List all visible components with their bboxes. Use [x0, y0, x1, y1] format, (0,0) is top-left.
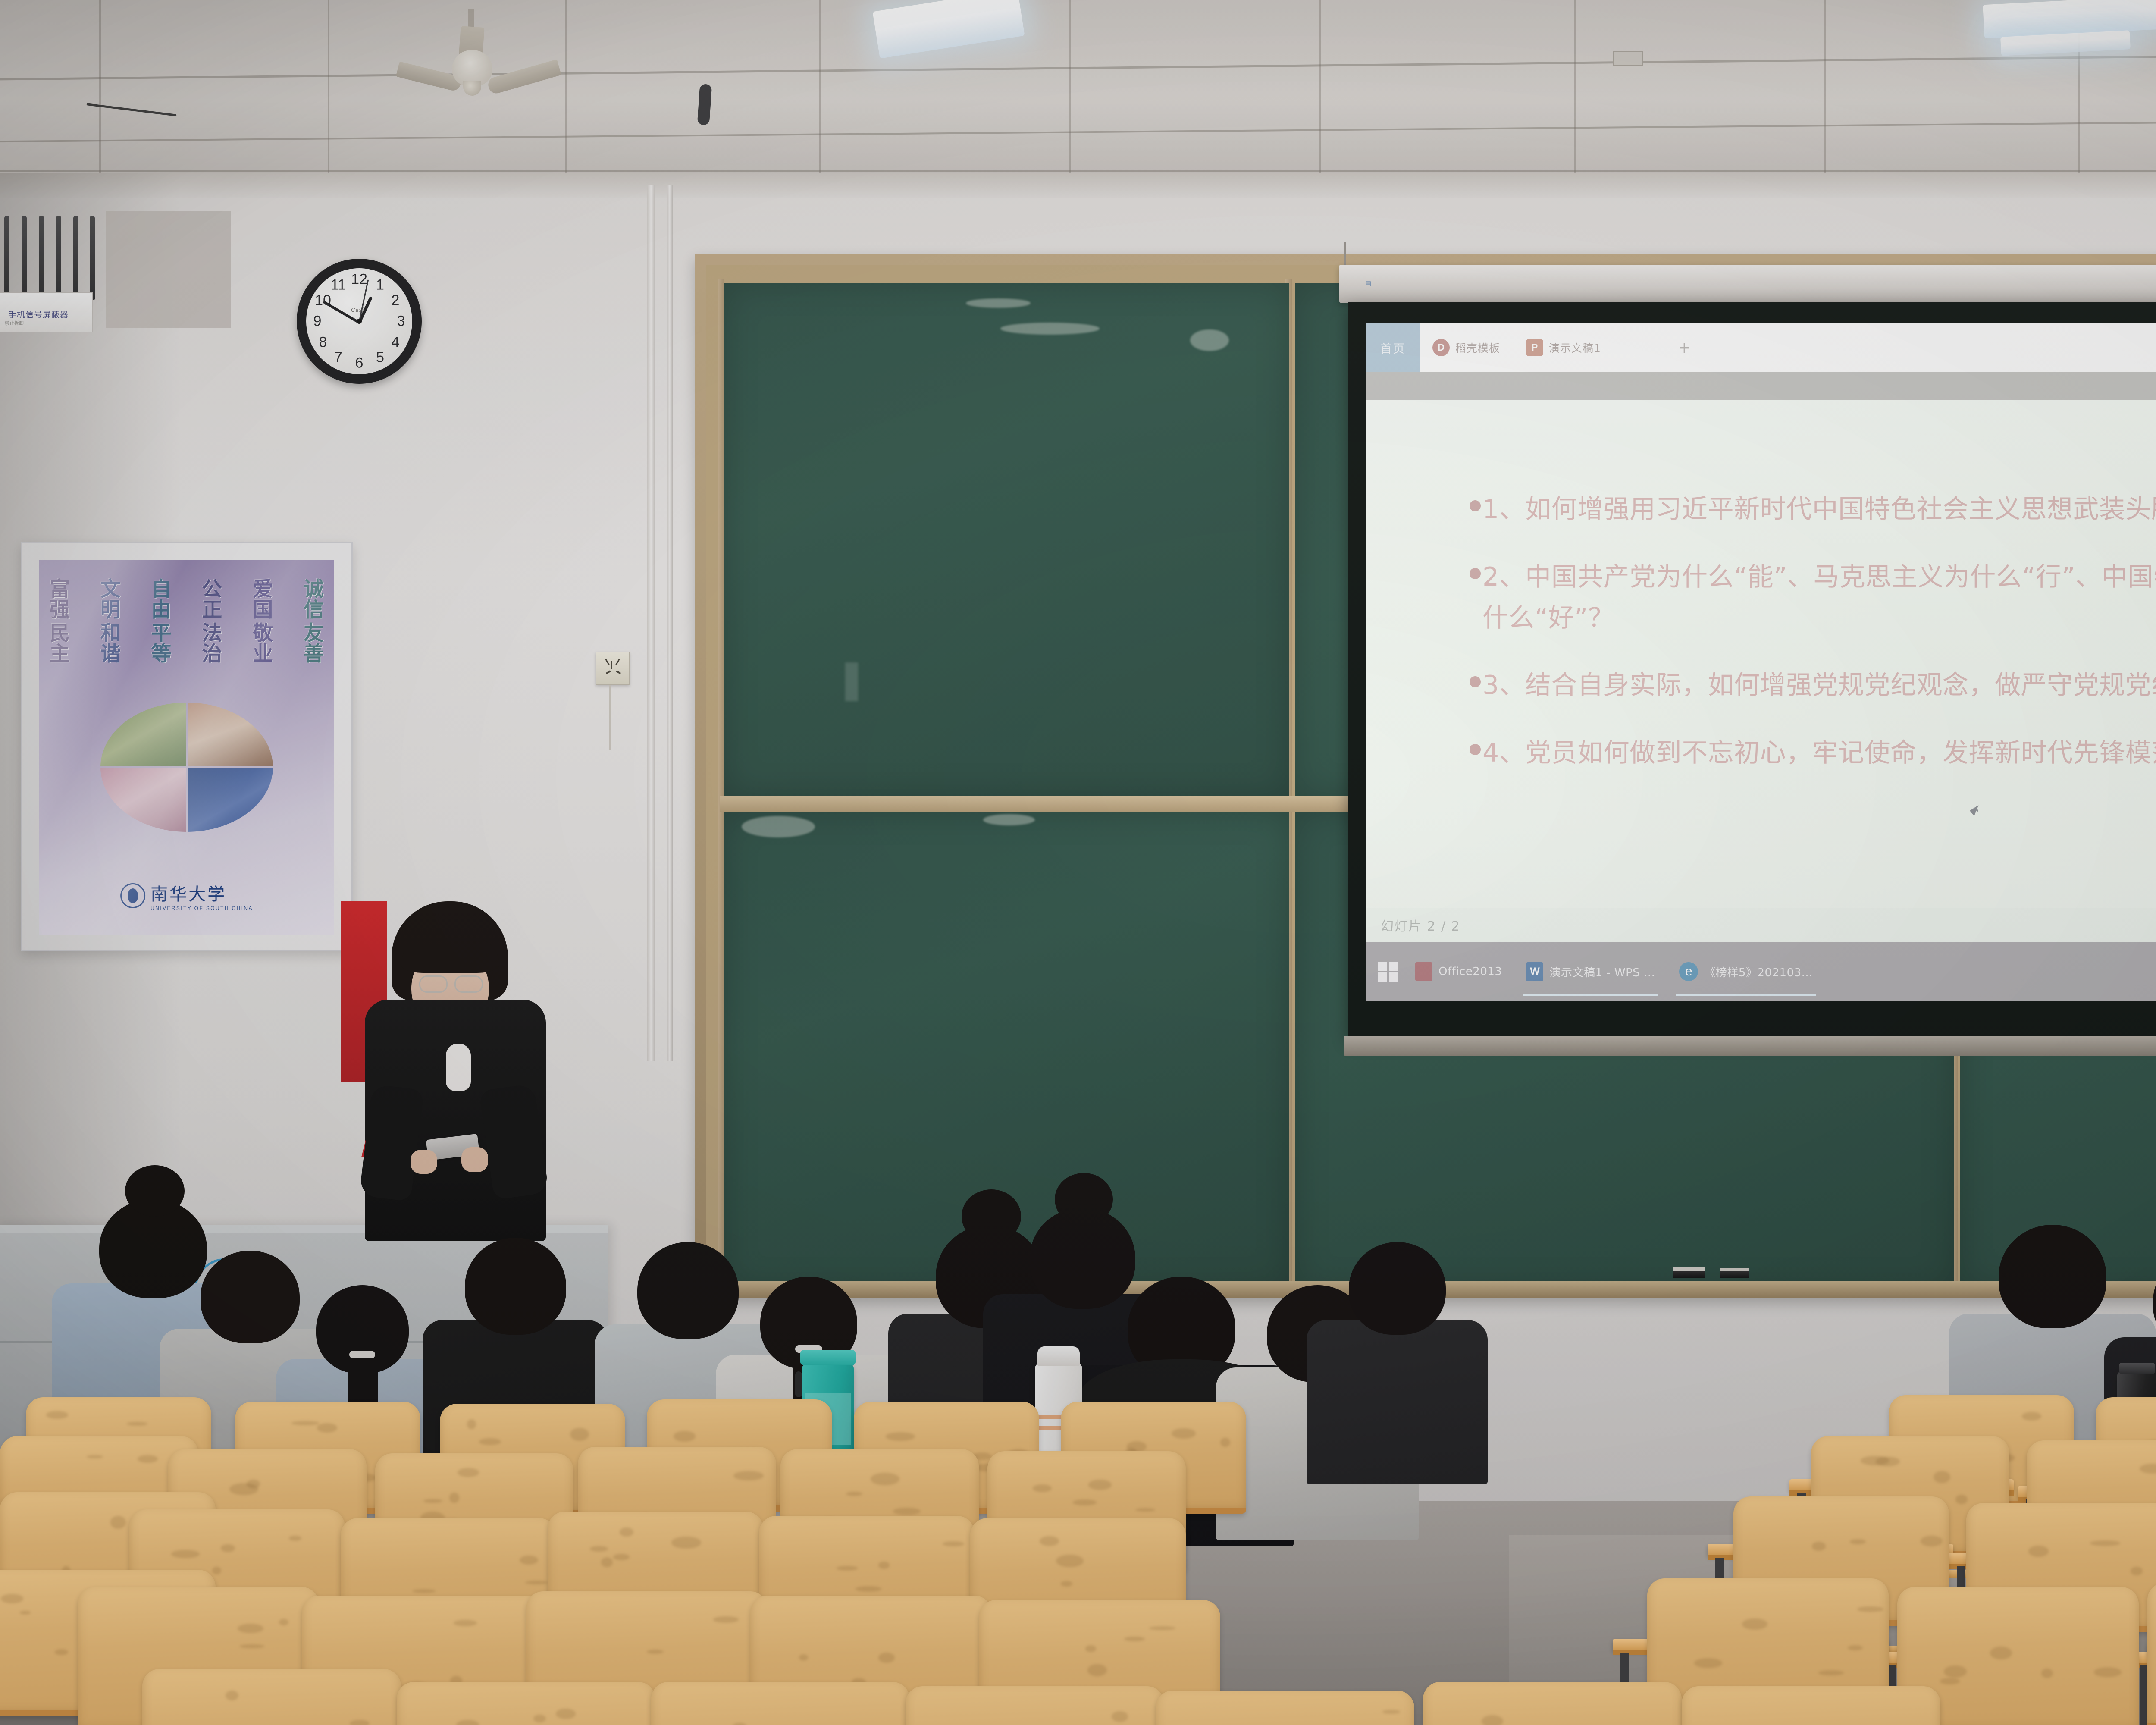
blackboard-eraser — [1720, 1268, 1749, 1278]
mouse-cursor-icon — [1974, 806, 1980, 812]
slide-bullet-text: 1、如何增强用习近平新时代中国特色社会主义思想武装头脑的自觉性？ — [1482, 489, 2156, 530]
seated-student — [1307, 1242, 1488, 1499]
clock-numeral: 2 — [392, 292, 400, 309]
ceiling-fan — [358, 9, 582, 108]
hair-bun — [125, 1165, 185, 1217]
taskbar-label: Office2013 — [1438, 965, 1502, 978]
bullet-dot-icon — [1470, 568, 1481, 579]
classroom-chair — [1423, 1682, 1682, 1725]
office-icon — [1415, 962, 1432, 981]
bullet-dot-icon — [1470, 676, 1481, 687]
clock-numeral: 6 — [355, 355, 364, 372]
classroom-photo: 手机信号屏蔽器 禁止拆卸 Casio 121234567891011 富 强民 … — [0, 0, 2156, 1725]
student-head — [465, 1238, 566, 1335]
core-values-poster: 富 强民 主文 明和 谐自 由平 等公 正法 治爱 国敬 业诚 信友 善 南华大… — [21, 542, 353, 951]
edge-icon — [1679, 962, 1698, 981]
slide-bullet: 2、中国共产党为什么“能”、马克思主义为什么“行”、中国特色社会主义为什么“好”… — [1470, 557, 2156, 639]
start-button-icon[interactable] — [1378, 962, 1398, 982]
classroom-chair — [1682, 1686, 1940, 1725]
blackboard-panel — [724, 283, 1289, 796]
wall-conduit — [667, 185, 673, 1061]
wps-office-window: 首页 D 稻壳模板 P 演示文稿1 + 请登录 − — [1366, 323, 2156, 1024]
clock-numeral: 8 — [319, 334, 327, 351]
wall-clock: Casio 121234567891011 — [297, 259, 422, 384]
taskbar-item-browser[interactable]: 《榜样5》202103... — [1672, 951, 1820, 992]
projector-screen: 首页 D 稻壳模板 P 演示文稿1 + 请登录 − — [1348, 302, 2156, 1036]
clock-numeral: 12 — [351, 271, 367, 288]
hair-tie — [349, 1351, 375, 1358]
classroom-chair — [651, 1682, 910, 1725]
clock-numeral: 1 — [376, 276, 384, 293]
bullet-dot-icon — [1470, 500, 1481, 511]
presenting-student — [341, 901, 565, 1255]
chair-backrest — [651, 1682, 910, 1725]
classroom-chair — [397, 1682, 655, 1725]
tab-docer-template[interactable]: D 稻壳模板 — [1420, 323, 1513, 372]
wall-patch — [106, 211, 231, 328]
student-head — [2153, 1251, 2156, 1352]
docer-icon: D — [1432, 339, 1450, 356]
tab-presentation1[interactable]: P 演示文稿1 — [1513, 323, 1614, 372]
chair-backrest — [2147, 1583, 2156, 1725]
wps-workspace: 1、如何增强用习近平新时代中国特色社会主义思想武装头脑的自觉性？2、中国共产党为… — [1366, 372, 2156, 972]
wps-statusbar: 幻灯片 2 / 2 〈 ☰ 〉 — [1366, 908, 2156, 942]
outlet-wire — [609, 685, 611, 750]
wall-conduit — [647, 185, 655, 1061]
ceiling — [0, 0, 2156, 181]
wps-tabbar: 首页 D 稻壳模板 P 演示文稿1 + 请登录 − — [1366, 323, 2156, 372]
slide-bullet: 3、结合自身实际，如何增强党规党纪观念，做严守党规党纪的表率？ — [1470, 665, 2156, 706]
projector-screen-weight-bar — [1344, 1036, 2156, 1056]
taskbar-item-wps[interactable]: 演示文稿1 - WPS ... — [1519, 951, 1662, 992]
windows-taskbar: Office2013 演示文稿1 - WPS ... 《榜样5》202103..… — [1366, 942, 2156, 1001]
slide-canvas[interactable]: 1、如何增强用习近平新时代中国特色社会主义思想武装头脑的自觉性？2、中国共产党为… — [1366, 400, 2156, 908]
jammer-sublabel: 禁止拆卸 — [5, 320, 24, 326]
slide-bullet: 4、党员如何做到不忘初心，牢记使命，发挥新时代先锋模范作用？ — [1470, 733, 2156, 774]
slide-bullet: 1、如何增强用习近平新时代中国特色社会主义思想武装头脑的自觉性？ — [1470, 489, 2156, 530]
student-head — [1999, 1225, 2106, 1328]
projector-screen-housing: ▤ — [1339, 265, 2156, 303]
jammer-label: 手机信号屏蔽器 — [8, 308, 69, 320]
taskbar-label: 《榜样5》202103... — [1704, 964, 1813, 980]
clock-numeral: 7 — [334, 349, 342, 366]
chair-backrest — [906, 1686, 1164, 1725]
power-outlet — [596, 652, 630, 685]
screen-hook — [1344, 241, 1346, 267]
wall-cornice — [0, 172, 2156, 198]
classroom-chair — [1156, 1690, 1414, 1725]
slide-bullet-text: 3、结合自身实际，如何增强党规党纪观念，做严守党规党纪的表率？ — [1482, 665, 2156, 706]
wps-icon — [1526, 962, 1543, 981]
taskbar-label: 演示文稿1 - WPS ... — [1549, 964, 1655, 980]
phone-signal-jammer: 手机信号屏蔽器 禁止拆卸 — [0, 216, 103, 332]
blackboard-eraser — [1673, 1267, 1705, 1278]
chair-backrest — [1682, 1686, 1940, 1725]
clock-numeral: 9 — [313, 313, 322, 330]
hair-bun — [1055, 1173, 1113, 1226]
screen-brand-icon: ▤ — [1365, 279, 1371, 287]
ceiling-fixture — [1613, 51, 1643, 66]
tab-home[interactable]: 首页 — [1366, 323, 1420, 372]
tab-label: 演示文稿1 — [1549, 340, 1601, 355]
clock-numeral: 3 — [397, 313, 405, 330]
student-head — [1349, 1242, 1446, 1335]
classroom-chair — [142, 1669, 401, 1725]
slide-bullet-text: 2、中国共产党为什么“能”、马克思主义为什么“行”、中国特色社会主义为什么“好”… — [1482, 557, 2156, 639]
ppt-icon: P — [1526, 339, 1543, 356]
bullet-dot-icon — [1470, 744, 1481, 755]
student-torso — [1307, 1320, 1488, 1484]
clock-numeral: 11 — [331, 276, 346, 293]
chair-backrest — [397, 1682, 655, 1725]
slide-counter: 幻灯片 2 / 2 — [1381, 916, 1460, 935]
chair-backrest — [142, 1669, 401, 1725]
shirt-graphic — [446, 1044, 471, 1091]
clock-numeral: 4 — [392, 334, 400, 351]
slide-bullet-list: 1、如何增强用习近平新时代中国特色社会主义思想武装头脑的自觉性？2、中国共产党为… — [1470, 489, 2156, 800]
taskbar-item-office[interactable]: Office2013 — [1408, 951, 1509, 992]
classroom-chair — [2147, 1583, 2156, 1725]
eyeglasses-icon — [419, 975, 483, 990]
slide-bullet-text: 4、党员如何做到不忘初心，牢记使命，发挥新时代先锋模范作用？ — [1482, 733, 2156, 774]
clock-numeral: 10 — [315, 292, 331, 309]
chair-backrest — [1423, 1682, 1682, 1725]
chair-backrest — [1156, 1690, 1414, 1725]
tab-label: 稻壳模板 — [1455, 340, 1500, 355]
clock-numeral: 5 — [376, 349, 384, 366]
classroom-chair — [906, 1686, 1164, 1725]
